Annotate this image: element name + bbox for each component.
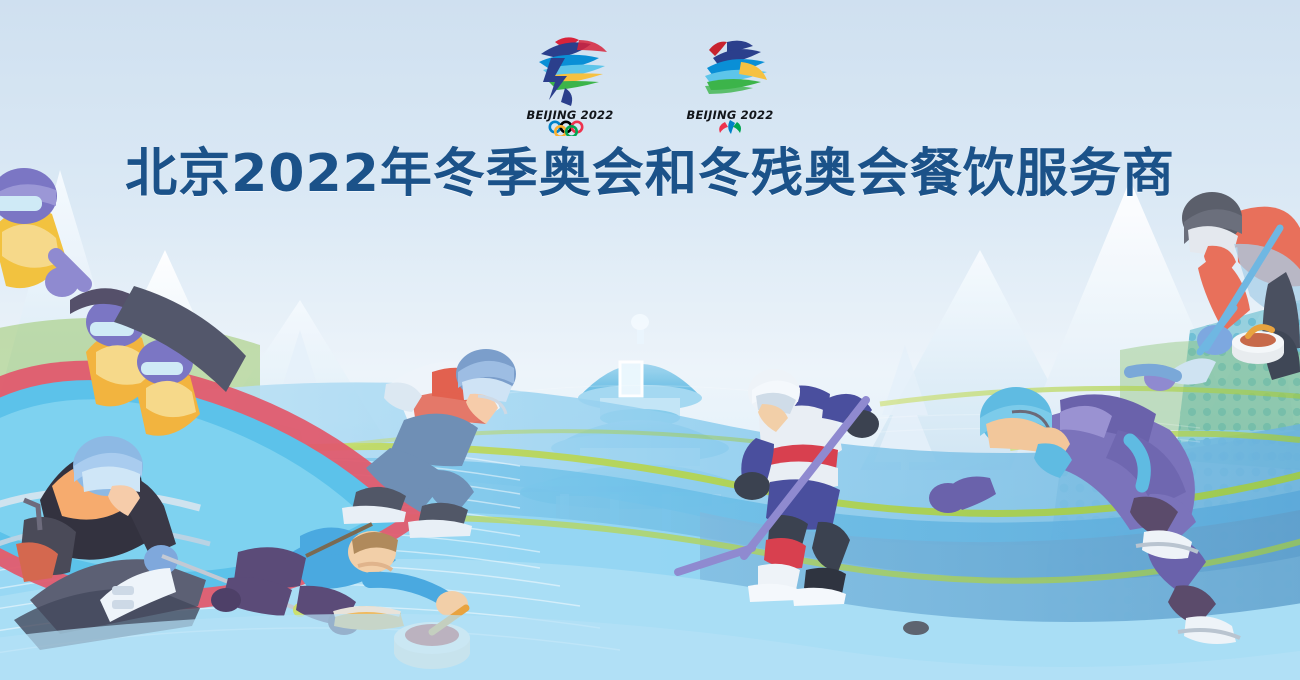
agitos-icon (719, 120, 741, 134)
beijing-2022-paralympic-emblem: BEIJING 2022 (681, 32, 779, 136)
beijing-2022-olympic-emblem: BEIJING 2022 (521, 32, 619, 136)
paralympic-wordmark: BEIJING 2022 (687, 108, 774, 122)
page-title: 北京2022年冬季奥会和冬残奥会餐饮服务商 (125, 144, 1175, 204)
olympic-wordmark: BEIJING 2022 (527, 108, 614, 122)
winter-dream-ribbon-icon (539, 37, 607, 106)
olympic-rings-icon (550, 122, 582, 136)
page-title-wrapper: 北京2022年冬季奥会和冬残奥会餐饮服务商 (0, 144, 1300, 204)
leap-ribbon-icon (705, 41, 767, 94)
emblem-row: BEIJING 2022 (0, 32, 1300, 136)
banner-root: BEIJING 2022 (0, 0, 1300, 680)
